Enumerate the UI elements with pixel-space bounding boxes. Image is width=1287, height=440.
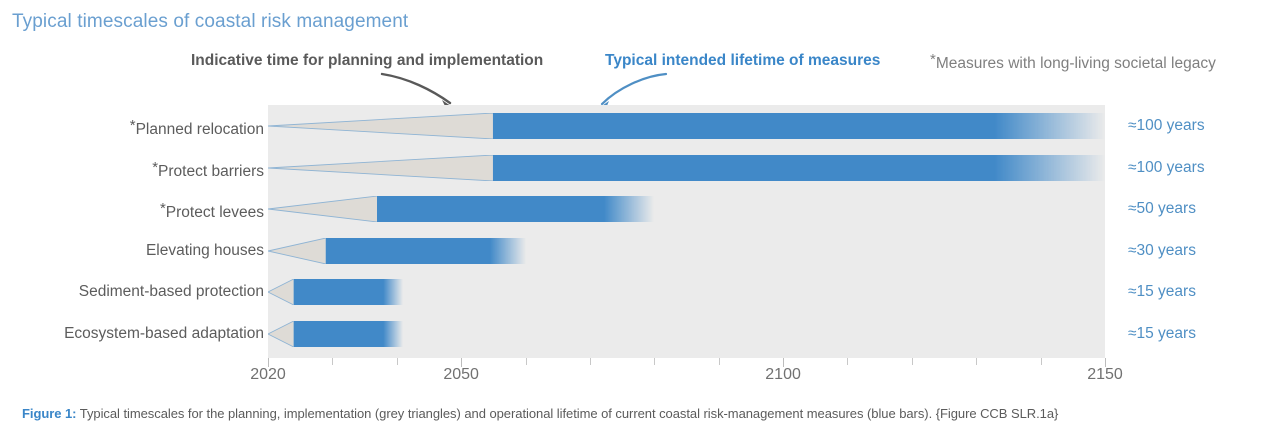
axis-tick-label-2020: 2020 [250, 366, 286, 384]
lifetime-bar [294, 321, 403, 347]
lifetime-bar [294, 279, 403, 305]
planning-triangle [268, 196, 377, 222]
page-title: Typical timescales of coastal risk manag… [12, 11, 408, 33]
value-label-2: ≈100 years [1128, 160, 1205, 176]
axis-tick-minor [719, 358, 720, 365]
row-label-5: Sediment-based protection [79, 284, 264, 300]
value-label-3: ≈50 years [1128, 201, 1196, 217]
lifetime-bar [377, 196, 654, 222]
value-label-1: ≈100 years [1128, 118, 1205, 134]
planning-triangle [268, 155, 493, 181]
planning-triangle [268, 279, 294, 305]
axis-tick-minor [976, 358, 977, 365]
axis-tick-label-2100: 2100 [765, 366, 801, 384]
row-label-4: Elevating houses [146, 243, 264, 259]
row-label-1: *Planned relocation [130, 118, 264, 138]
axis-tick-minor [397, 358, 398, 365]
planning-triangle [268, 113, 493, 139]
legend-label-planning: Indicative time for planning and impleme… [191, 52, 543, 70]
row-label-2: *Protect barriers [152, 160, 264, 180]
value-label-5: ≈15 years [1128, 284, 1196, 300]
axis-tick-minor [1041, 358, 1042, 365]
axis-tick-label-2050: 2050 [443, 366, 479, 384]
planning-triangle [268, 238, 326, 264]
x-axis [268, 358, 1105, 367]
figure-caption: Figure 1: Typical timescales for the pla… [22, 406, 1058, 421]
planning-triangle [268, 321, 294, 347]
footnote-star-note: *Measures with long-living societal lega… [930, 51, 1216, 73]
value-label-6: ≈15 years [1128, 326, 1196, 342]
row-label-3: *Protect levees [160, 201, 264, 221]
lifetime-bar [493, 155, 1105, 181]
asterisk-marker: * [160, 200, 166, 217]
footnote-star-text: Measures with long-living societal legac… [936, 55, 1216, 72]
lifetime-bar [326, 238, 526, 264]
axis-tick-minor [847, 358, 848, 365]
value-label-4: ≈30 years [1128, 243, 1196, 259]
axis-tick-label-2150: 2150 [1087, 366, 1123, 384]
axis-tick-minor [590, 358, 591, 365]
figure-caption-text: Typical timescales for the planning, imp… [76, 406, 1058, 421]
axis-tick-minor [654, 358, 655, 365]
asterisk-marker: * [152, 159, 158, 176]
figure-number: Figure 1: [22, 406, 76, 421]
axis-tick-minor [912, 358, 913, 365]
axis-tick-minor [526, 358, 527, 365]
lifetime-bar [493, 113, 1105, 139]
row-label-6: Ecosystem-based adaptation [64, 326, 264, 342]
asterisk-marker: * [130, 117, 136, 134]
axis-tick-minor [332, 358, 333, 365]
